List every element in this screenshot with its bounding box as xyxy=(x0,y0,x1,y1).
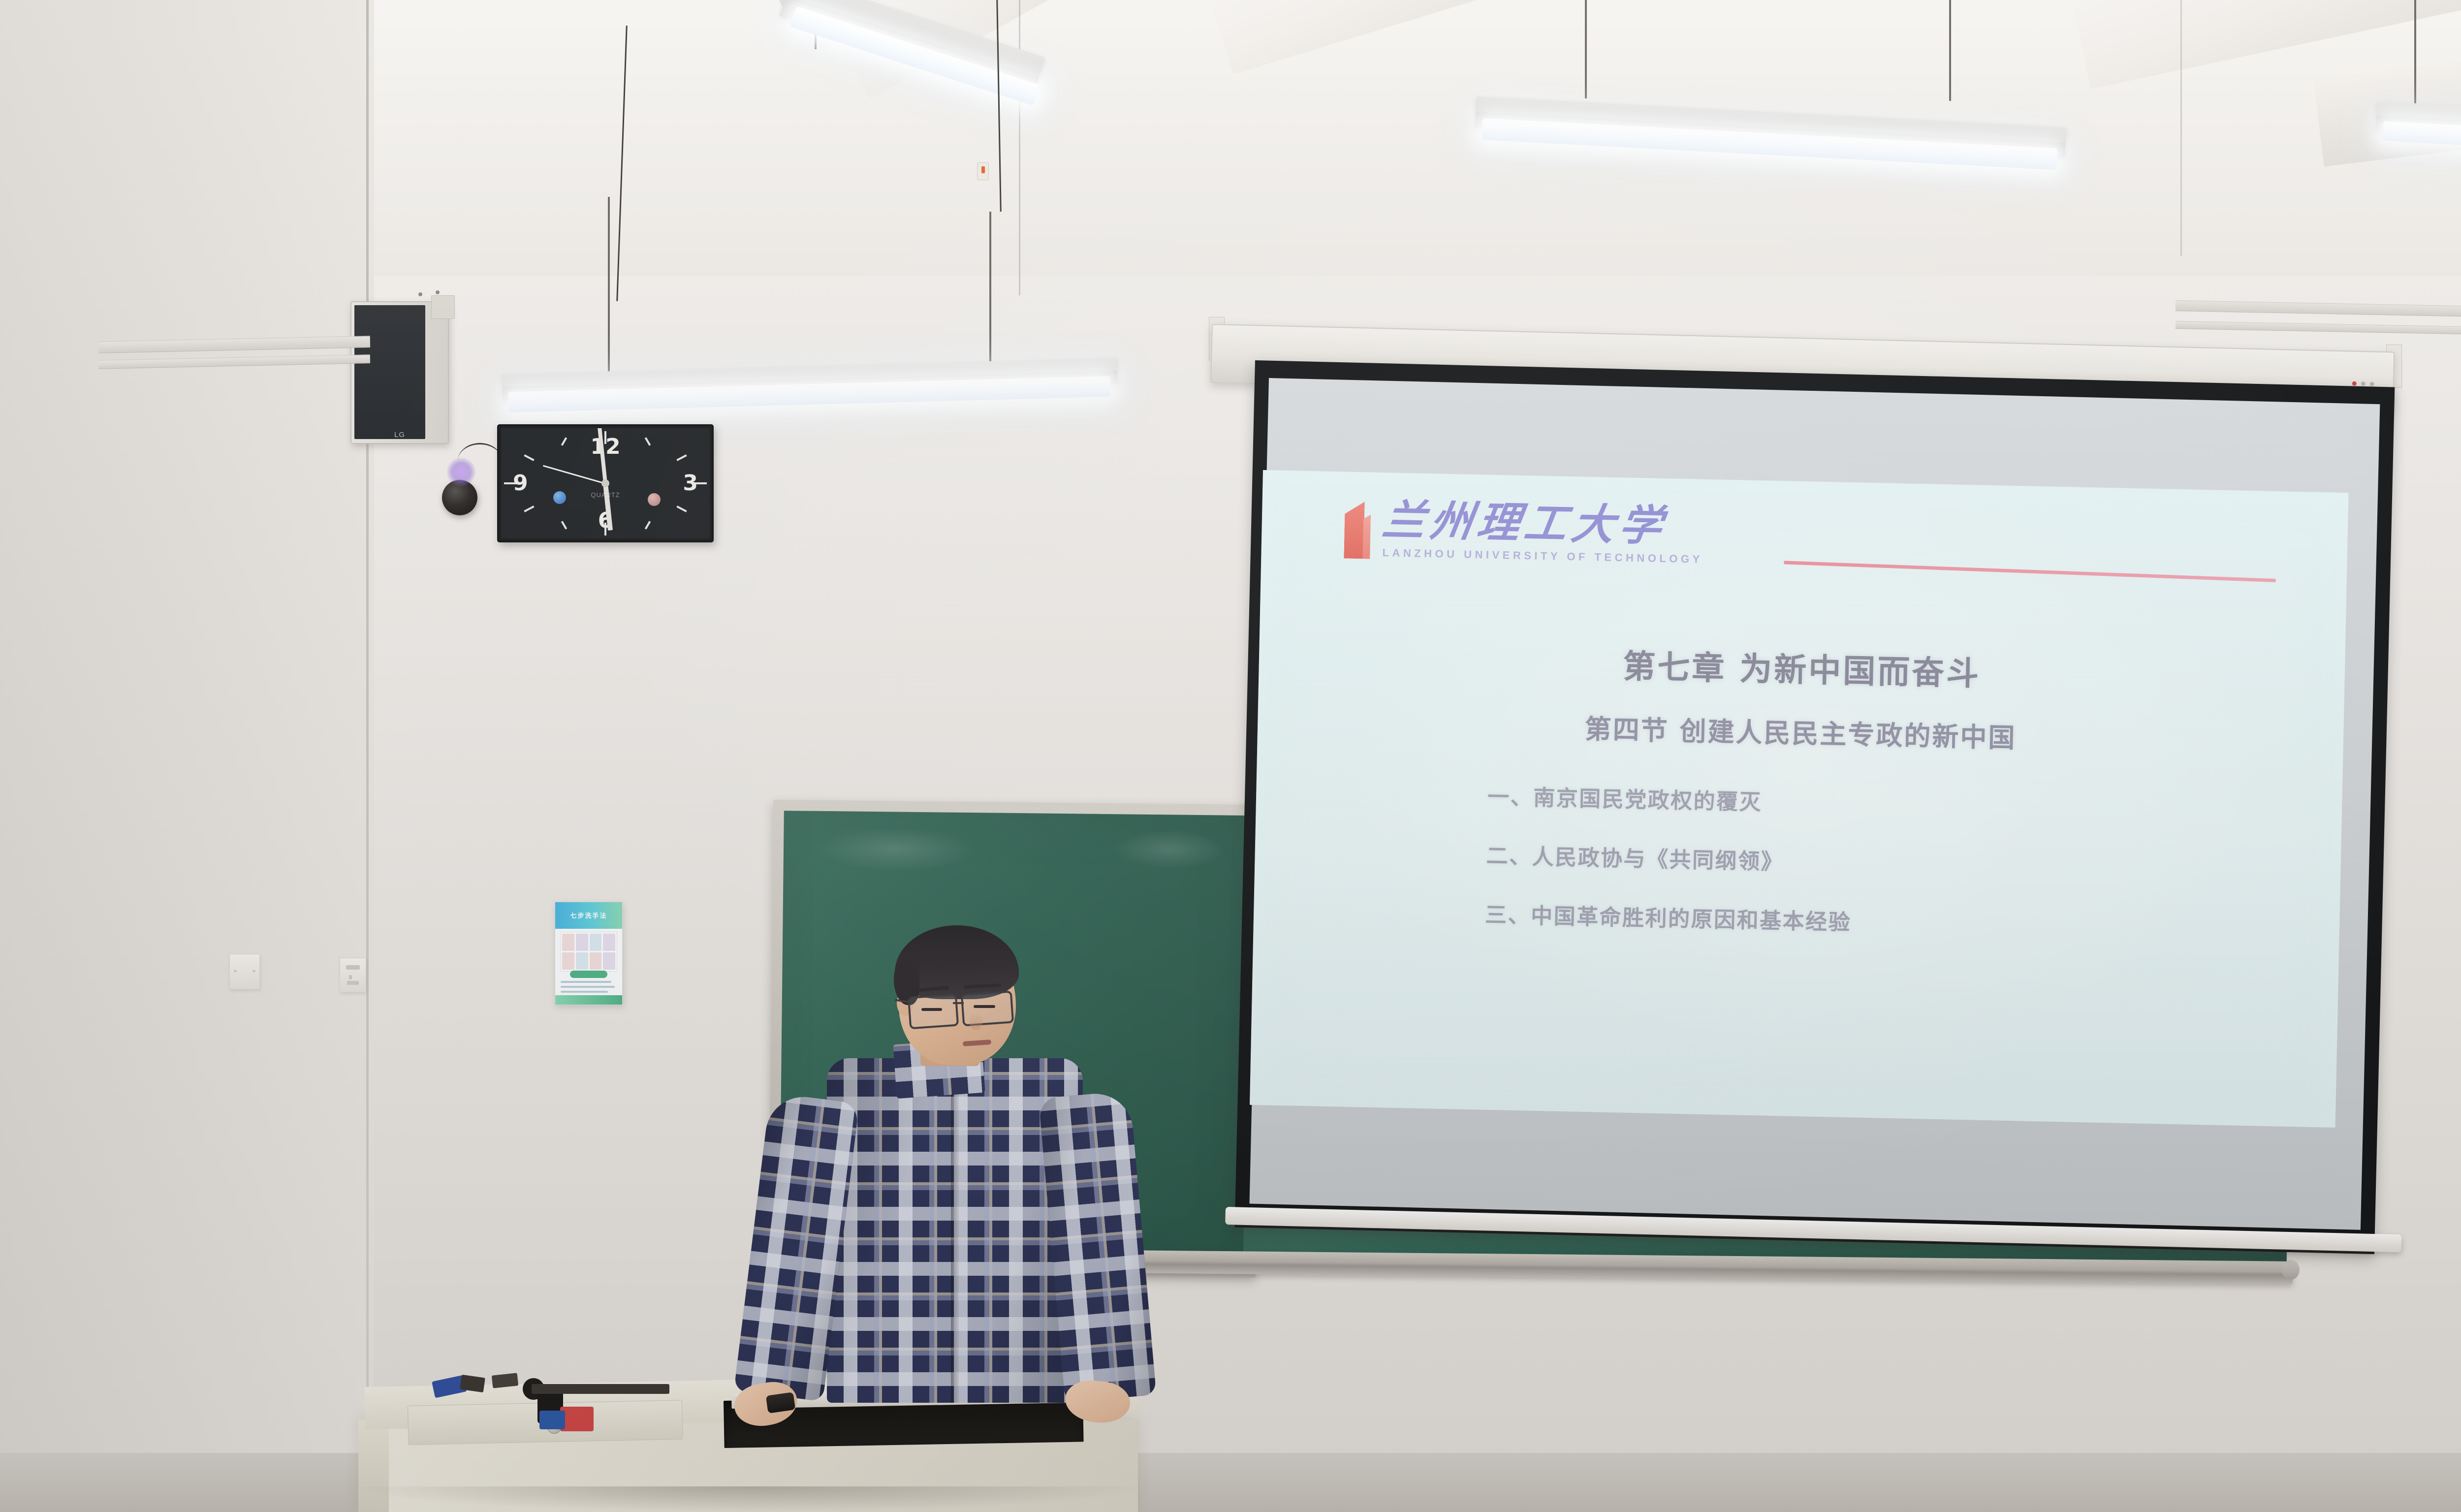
poster-pill-label xyxy=(570,971,607,978)
gear-blue-item[interactable] xyxy=(539,1411,565,1429)
clock-center-pin xyxy=(601,479,609,487)
left-wall xyxy=(0,0,374,1512)
slide-subtitle: 第四节 创建人民民主专政的新中国 xyxy=(1258,700,2344,762)
instructor-eye-left xyxy=(921,1008,942,1011)
instructor-nose xyxy=(970,1013,982,1030)
speaker-screw xyxy=(418,292,422,296)
eyeglasses-bridge xyxy=(953,1002,964,1004)
ceiling-seam-right xyxy=(2180,0,2182,256)
clock-numeral-12: 12 xyxy=(590,436,620,458)
poster-step-grid xyxy=(560,932,618,972)
poster-header-band: 七步洗手法 xyxy=(555,902,622,929)
clock-second-hand xyxy=(543,465,606,484)
poster-body-lines xyxy=(561,981,617,996)
instructor xyxy=(758,925,1152,1417)
wall-speaker-left: LG xyxy=(350,301,449,444)
wall-clock: 12 3 6 9 QUARTZ xyxy=(497,424,714,542)
blank-wall-plate xyxy=(229,954,260,989)
screen-status-leds xyxy=(2352,381,2374,386)
gear-dark-box[interactable] xyxy=(460,1375,485,1392)
slide-logo: 兰州理工大学 LANZHOU UNIVERSITY OF TECHNOLOGY xyxy=(1344,498,1704,566)
gear-red-item[interactable] xyxy=(560,1407,594,1431)
poster-footer-band xyxy=(555,995,622,1005)
poster-header-text: 七步洗手法 xyxy=(555,911,622,920)
slide-item-1: 一、南京国民党政权的覆灭 xyxy=(1487,779,1763,817)
slide-item-3: 三、中国革命胜利的原因和基本经验 xyxy=(1485,897,1852,937)
ceiling-seam xyxy=(1019,0,1020,295)
slide-logo-rule xyxy=(1784,561,2276,582)
presenter-remote[interactable] xyxy=(766,1392,795,1413)
slide-title: 第七章 为新中国而奋斗 xyxy=(1259,632,2345,702)
clock-decor-dot-blue xyxy=(553,491,566,504)
university-logo-mark-icon xyxy=(1344,498,1373,559)
speaker-logo-left: LG xyxy=(394,431,405,439)
hygiene-poster: 七步洗手法 xyxy=(555,902,623,1005)
power-outlet[interactable] xyxy=(340,958,366,992)
gear-strip xyxy=(532,1384,669,1394)
projected-slide: 兰州理工大学 LANZHOU UNIVERSITY OF TECHNOLOGY … xyxy=(1250,470,2349,1128)
speaker-screw xyxy=(436,290,440,294)
university-name-cn: 兰州理工大学 xyxy=(1380,499,1706,548)
clock-decor-dot-pink xyxy=(648,493,661,506)
clock-numeral-3: 3 xyxy=(683,472,698,494)
podium-floor-shadow xyxy=(345,1486,1152,1512)
camera-wire xyxy=(458,443,502,479)
clock-numeral-9: 9 xyxy=(513,472,528,494)
slide-item-2: 二、人民政协与《共同纲领》 xyxy=(1486,838,1784,876)
eyeglasses-icon xyxy=(908,994,959,1030)
instructor-eye-right xyxy=(974,1005,995,1008)
gear-small-box[interactable] xyxy=(492,1373,518,1388)
classroom-scene: LG LG 12 3 6 xyxy=(0,0,2461,1512)
left-wall-corner xyxy=(366,0,369,1512)
eyeglasses-lens-right xyxy=(961,990,1014,1026)
chalk-tray-end-cap xyxy=(2282,1260,2300,1280)
speaker-bracket-left xyxy=(431,295,455,319)
